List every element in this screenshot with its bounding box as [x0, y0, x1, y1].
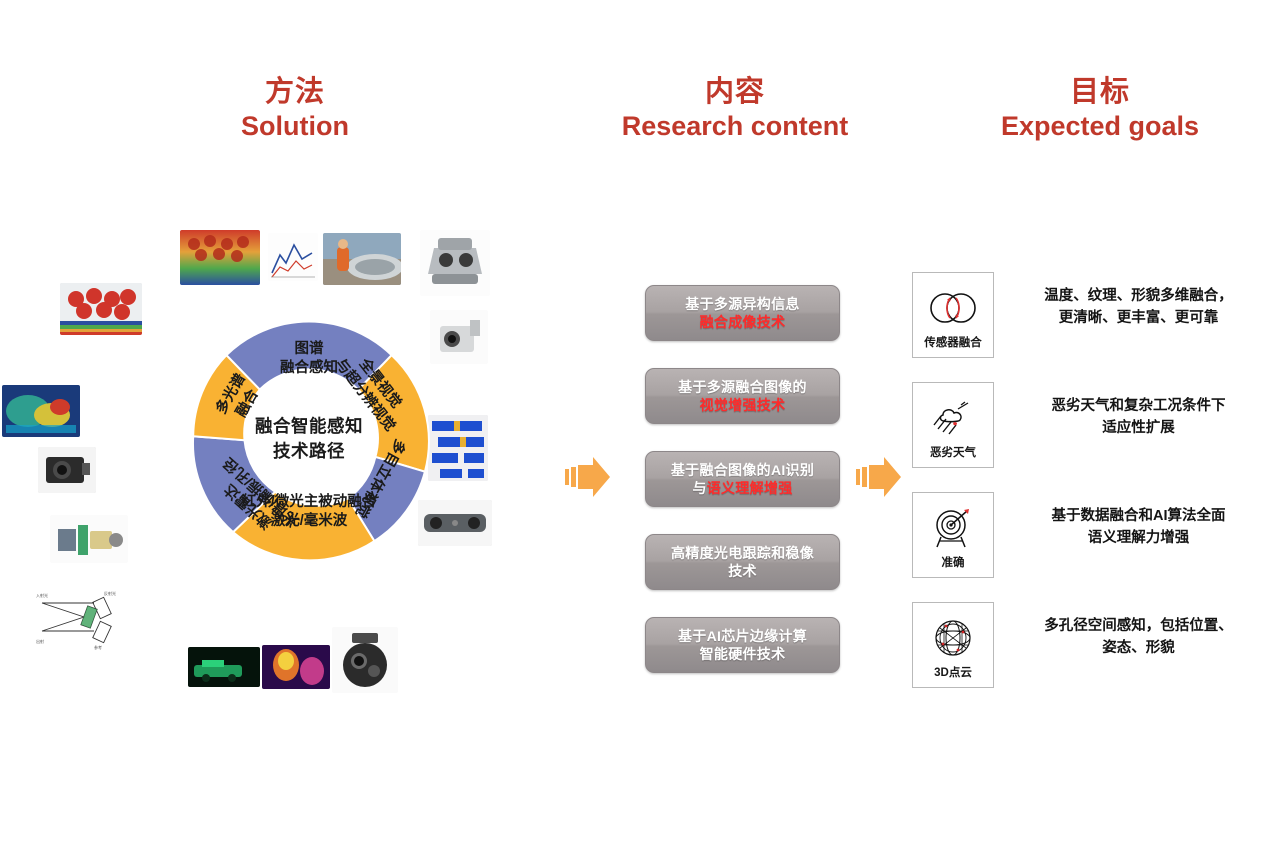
svg-text:出射: 出射	[36, 638, 44, 644]
goal-text-bad-weather: 恶劣天气和复杂工况条件下 适应性扩展	[1021, 396, 1256, 440]
process-box-ai-chip-edge-computing[interactable]: 基于AI芯片边缘计算 智能硬件技术	[645, 617, 840, 673]
segment-label-spectral-fusion-2: 融合感知	[280, 358, 338, 376]
expected-goals-column: 传感器融合 温度、纹理、形貌多维融合， 更清晰、更丰富、更可靠	[912, 272, 1262, 712]
header-goals-cn: 目标	[985, 76, 1215, 108]
donut-svg: 图谱 融合感知 全景视觉 与超分辨视觉 多目立体视觉 激光/毫米波 红外/微光主…	[160, 290, 458, 588]
photo-pipeline-inspection	[323, 233, 401, 285]
header-solution-en: Solution	[175, 111, 415, 141]
column-header-expected-goals: 目标 Expected goals	[985, 76, 1215, 142]
goal-icon-caption-bad-weather: 恶劣天气	[930, 444, 976, 460]
process-box-2-line2: 视觉增强技术	[700, 397, 786, 413]
photo-thermal-scene	[2, 385, 80, 437]
process-box-3-line2-prefix: 与	[692, 480, 706, 496]
goal-text-point-cloud: 多孔径空间感知，包括位置、 姿态、形貌	[1021, 616, 1256, 660]
goal-icon-caption-sensor-fusion: 传感器融合	[924, 334, 982, 350]
header-content-en: Research content	[595, 111, 875, 141]
goal-icon-caption-accuracy: 准确	[942, 554, 965, 570]
goal-text-4-line1: 多孔径空间感知，包括位置、	[1021, 616, 1256, 638]
header-goals-en: Expected goals	[985, 111, 1215, 141]
solution-wheel-area: 入射光反射光出射参考	[10, 215, 570, 715]
column-header-solution: 方法 Solution	[175, 76, 415, 142]
sensor-fusion-icon	[926, 281, 980, 334]
technology-roadmap-donut: 图谱 融合感知 全景视觉 与超分辨视觉 多目立体视觉 激光/毫米波 红外/微光主…	[160, 290, 458, 588]
photo-hyperspectral-cube	[180, 230, 260, 285]
target-accuracy-icon	[929, 501, 977, 554]
goal-text-accuracy: 基于数据融合和AI算法全面 语义理解力增强	[1021, 506, 1256, 550]
process-box-optoelectronic-tracking[interactable]: 高精度光电跟踪和稳像 技术	[645, 534, 840, 590]
arrow-content-to-goals	[856, 456, 902, 498]
process-box-5-line1: 基于AI芯片边缘计算	[678, 627, 807, 645]
goal-icon-box-point-cloud: 3D点云	[912, 602, 994, 688]
goal-text-1-line2: 更清晰、更丰富、更可靠	[1021, 308, 1256, 330]
goal-icon-box-sensor-fusion: 传感器融合	[912, 272, 994, 358]
goal-row-sensor-fusion: 传感器融合 温度、纹理、形貌多维融合， 更清晰、更丰富、更可靠	[912, 272, 1262, 382]
goal-text-4-line2: 姿态、形貌	[1021, 638, 1256, 660]
bad-weather-icon	[928, 391, 978, 444]
process-box-1-line2: 融合成像技术	[700, 314, 786, 330]
goal-text-3-line1: 基于数据融合和AI算法全面	[1021, 506, 1256, 528]
goal-text-2-line1: 恶劣天气和复杂工况条件下	[1021, 396, 1256, 418]
svg-text:参考: 参考	[94, 644, 102, 650]
photo-thermal-camera	[38, 447, 96, 493]
svg-text:入射光: 入射光	[36, 592, 48, 598]
process-box-3-line2: 语义理解增强	[707, 480, 793, 496]
process-box-1-line1: 基于多源异构信息	[685, 295, 799, 313]
goal-row-accuracy: 准确 基于数据融合和AI算法全面 语义理解力增强	[912, 492, 1262, 602]
photo-optical-schematic: 入射光反射光出射参考	[32, 583, 128, 655]
goal-icon-box-accuracy: 准确	[912, 492, 994, 578]
photo-spectrum-plot	[268, 233, 318, 281]
svg-text:反射光: 反射光	[104, 590, 116, 596]
goal-text-3-line2: 语义理解力增强	[1021, 528, 1256, 550]
research-content-column: 基于多源异构信息 融合成像技术 基于多源融合图像的 视觉增强技术 基于融合图像的…	[645, 285, 840, 700]
process-box-visual-enhancement[interactable]: 基于多源融合图像的 视觉增强技术	[645, 368, 840, 424]
photo-gimbal-camera	[332, 627, 398, 693]
goal-text-1-line1: 温度、纹理、形貌多维融合，	[1021, 286, 1256, 308]
header-content-cn: 内容	[595, 76, 875, 108]
process-box-2-line1: 基于多源融合图像的	[678, 378, 807, 396]
process-box-4-line1: 高精度光电跟踪和稳像	[671, 544, 814, 562]
segment-label-spectral-fusion: 图谱	[295, 339, 324, 357]
goal-icon-box-bad-weather: 恶劣天气	[912, 382, 994, 468]
photo-tomato-multispectral	[60, 283, 142, 335]
process-box-4-line2: 技术	[728, 562, 757, 580]
header-solution-cn: 方法	[175, 76, 415, 108]
photo-night-vision-scene	[188, 647, 260, 687]
goal-text-sensor-fusion: 温度、纹理、形貌多维融合， 更清晰、更丰富、更可靠	[1021, 286, 1256, 330]
goal-row-point-cloud: 3D点云 多孔径空间感知，包括位置、 姿态、形貌	[912, 602, 1262, 712]
goal-row-bad-weather: 恶劣天气 恶劣天气和复杂工况条件下 适应性扩展	[912, 382, 1262, 492]
arrow-wheel-to-content	[565, 456, 611, 498]
photo-multi-aperture-sensor-head	[420, 230, 490, 296]
goal-icon-caption-point-cloud: 3D点云	[934, 664, 972, 680]
column-header-research-content: 内容 Research content	[595, 76, 875, 142]
process-box-3-line1: 基于融合图像的AI识别	[671, 461, 814, 479]
process-box-fusion-imaging[interactable]: 基于多源异构信息 融合成像技术	[645, 285, 840, 341]
process-box-5-line2: 智能硬件技术	[700, 645, 786, 663]
photo-polarization-module	[50, 515, 128, 563]
diagram-root: 方法 Solution 内容 Research content 目标 Expec…	[0, 0, 1268, 866]
point-cloud-icon	[930, 611, 976, 664]
goal-text-2-line2: 适应性扩展	[1021, 418, 1256, 440]
process-box-ai-recognition-semantics[interactable]: 基于融合图像的AI识别 与语义理解增强	[645, 451, 840, 507]
photo-infrared-portrait	[262, 645, 330, 689]
